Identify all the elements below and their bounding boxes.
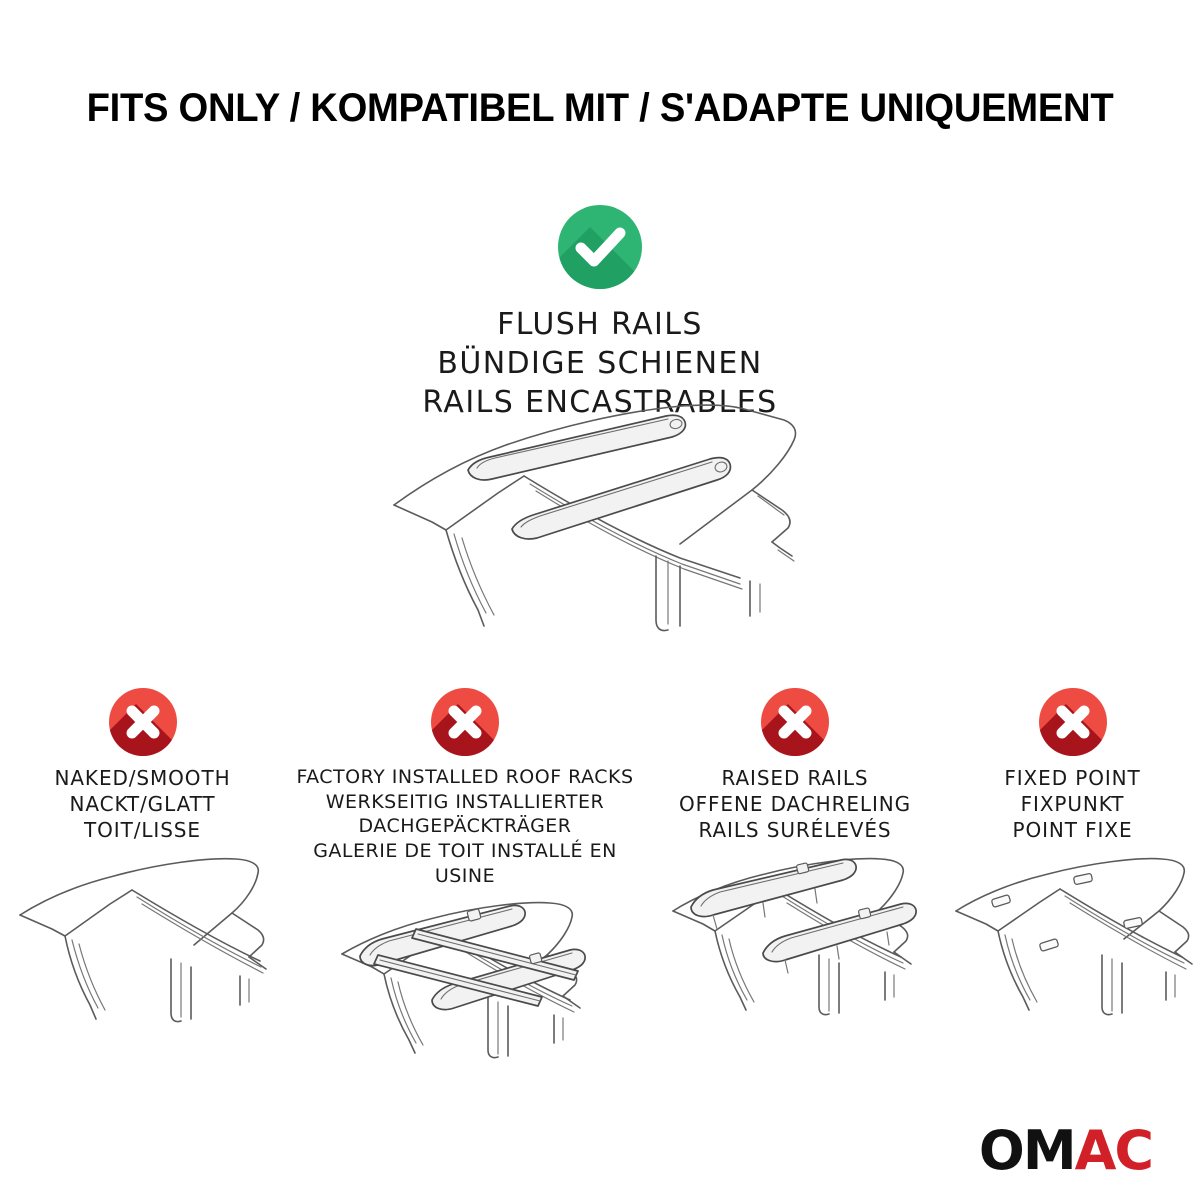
x-circle-icon bbox=[761, 688, 829, 756]
incompatible-label: FACTORY INSTALLED ROOF RACKS WERKSEITIG … bbox=[285, 765, 645, 888]
x-circle-icon bbox=[431, 688, 499, 756]
incompatible-item-naked-smooth: NAKED/SMOOTH NACKT/GLATT TOIT/LISSE bbox=[0, 688, 285, 1068]
car-roof-flush-rails-illustration bbox=[380, 398, 840, 638]
check-mark-glyph bbox=[558, 205, 642, 289]
logo-text-red: AC bbox=[1075, 1119, 1152, 1182]
x-mark-glyph bbox=[761, 688, 829, 756]
incompatible-label: FIXED POINT FIXPUNKT POINT FIXE bbox=[945, 765, 1200, 843]
incompatible-label: RAISED RAILS OFFENE DACHRELING RAILS SUR… bbox=[645, 765, 945, 843]
compatible-label-de: BÜNDIGE SCHIENEN bbox=[0, 344, 1200, 383]
x-mark-glyph bbox=[109, 688, 177, 756]
x-circle-icon bbox=[1039, 688, 1107, 756]
incompatible-section: NAKED/SMOOTH NACKT/GLATT TOIT/LISSE bbox=[0, 688, 1200, 1113]
omac-logo: OMAC bbox=[979, 1124, 1152, 1178]
car-roof-fixed-point-illustration bbox=[945, 853, 1200, 1068]
compatible-label-en: FLUSH RAILS bbox=[0, 305, 1200, 344]
incompatible-item-fixed-point: FIXED POINT FIXPUNKT POINT FIXE bbox=[945, 688, 1200, 1068]
page-title: FITS ONLY / KOMPATIBEL MIT / S'ADAPTE UN… bbox=[27, 86, 1173, 131]
logo-text-dark: OM bbox=[979, 1119, 1075, 1182]
incompatible-label: NAKED/SMOOTH NACKT/GLATT TOIT/LISSE bbox=[0, 765, 285, 843]
car-roof-raised-rails-illustration bbox=[645, 853, 945, 1068]
compatible-section: FLUSH RAILS BÜNDIGE SCHIENEN RAILS ENCAS… bbox=[0, 205, 1200, 422]
car-roof-factory-racks-illustration bbox=[285, 898, 645, 1113]
x-mark-glyph bbox=[1039, 688, 1107, 756]
car-roof-naked-smooth-illustration bbox=[0, 853, 285, 1068]
incompatible-item-factory-racks: FACTORY INSTALLED ROOF RACKS WERKSEITIG … bbox=[285, 688, 645, 1113]
x-circle-icon bbox=[109, 688, 177, 756]
incompatible-item-raised-rails: RAISED RAILS OFFENE DACHRELING RAILS SUR… bbox=[645, 688, 945, 1068]
x-mark-glyph bbox=[431, 688, 499, 756]
check-circle-icon bbox=[558, 205, 642, 289]
